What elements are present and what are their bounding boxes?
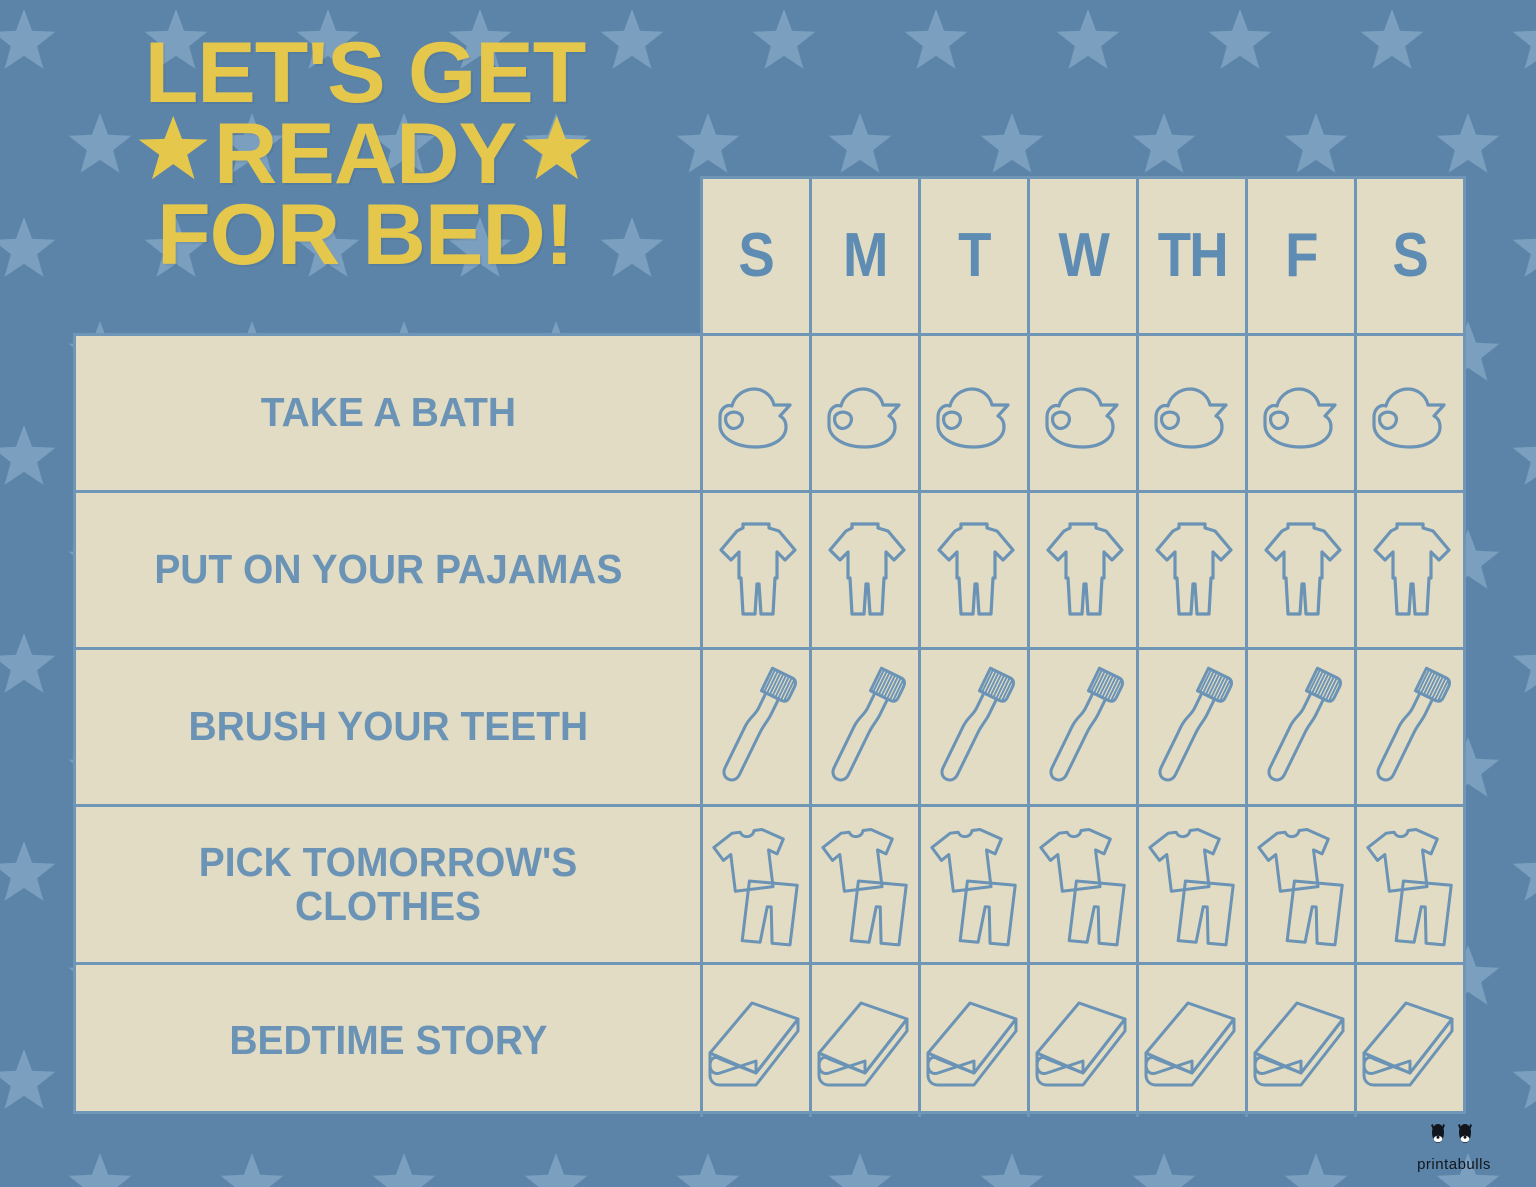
pajamas-icon	[1258, 518, 1344, 622]
background-star-icon	[1513, 425, 1536, 485]
background-star-icon	[1513, 841, 1536, 901]
checkbox-cell-teeth-w[interactable]	[1027, 650, 1136, 804]
toothbrush-icon	[930, 657, 1018, 797]
book-icon	[924, 993, 1024, 1089]
checkbox-cell-bath-t[interactable]	[918, 336, 1027, 490]
task-label-cell-clothes: PICK TOMORROW'S CLOTHES	[76, 807, 700, 962]
checkbox-cell-teeth-th[interactable]	[1136, 650, 1245, 804]
background-star-icon	[829, 1153, 892, 1187]
checkbox-cell-clothes-s2[interactable]	[1354, 807, 1463, 962]
table-row: PUT ON YOUR PAJAMAS	[76, 493, 1463, 650]
checkbox-cell-story-m[interactable]	[809, 965, 918, 1117]
day-header-cell-3: W	[1027, 176, 1136, 333]
day-label-thursday: TH	[1157, 225, 1226, 287]
background-star-icon	[0, 217, 55, 277]
pajamas-icon	[1367, 518, 1453, 622]
checkbox-cell-bath-w[interactable]	[1027, 336, 1136, 490]
title-word-ready: READY	[214, 115, 516, 194]
book-icon	[1360, 993, 1460, 1089]
rubber-duck-icon	[1364, 373, 1456, 453]
checkbox-cell-bath-th[interactable]	[1136, 336, 1245, 490]
toothbrush-icon	[1257, 657, 1345, 797]
table-row: BEDTIME STORY	[76, 965, 1463, 1117]
checkbox-cell-story-t[interactable]	[918, 965, 1027, 1117]
title-line-2-with-stars: READY	[64, 113, 666, 196]
pajamas-icon	[1149, 518, 1235, 622]
pajamas-icon	[822, 518, 908, 622]
checkbox-cell-pajamas-t[interactable]	[918, 493, 1027, 647]
task-label-text: BRUSH YOUR TEETH	[188, 705, 588, 748]
background-star-icon	[677, 113, 740, 173]
rubber-duck-icon	[819, 373, 911, 453]
background-star-icon	[753, 9, 816, 69]
background-star-icon	[0, 9, 55, 69]
background-star-icon	[1285, 1153, 1348, 1187]
background-star-icon	[829, 113, 892, 173]
clothes-icon	[817, 821, 913, 949]
clothes-icon	[1144, 821, 1240, 949]
background-star-icon	[1513, 9, 1536, 69]
day-header-cell-2: T	[918, 176, 1027, 333]
task-label-cell-bath: TAKE A BATH	[76, 336, 700, 490]
checkbox-cell-story-s2[interactable]	[1354, 965, 1463, 1117]
task-label-cell-pajamas: PUT ON YOUR PAJAMAS	[76, 493, 700, 647]
task-label-text: PICK TOMORROW'S CLOTHES	[107, 841, 669, 927]
checkbox-cell-pajamas-f[interactable]	[1245, 493, 1354, 647]
background-star-icon	[677, 1153, 740, 1187]
checkbox-cell-story-s1[interactable]	[700, 965, 809, 1117]
rubber-duck-icon	[1255, 373, 1347, 453]
background-star-icon	[1437, 113, 1500, 173]
table-row: TAKE A BATH	[76, 336, 1463, 493]
background-star-icon	[0, 1049, 55, 1109]
day-label-sunday: S	[739, 225, 774, 287]
book-icon	[1251, 993, 1351, 1089]
toothbrush-icon	[712, 657, 800, 797]
background-star-icon	[1513, 217, 1536, 277]
checkbox-cell-bath-s1[interactable]	[700, 336, 809, 490]
day-label-wednesday: W	[1058, 225, 1108, 287]
table-row: PICK TOMORROW'S CLOTHES	[76, 807, 1463, 965]
pajamas-icon	[713, 518, 799, 622]
checkbox-cell-pajamas-w[interactable]	[1027, 493, 1136, 647]
background-star-icon	[1513, 633, 1536, 693]
checkbox-cell-pajamas-m[interactable]	[809, 493, 918, 647]
background-star-icon	[905, 9, 968, 69]
clothes-icon	[1253, 821, 1349, 949]
day-label-monday: M	[843, 225, 887, 287]
background-star-icon	[1285, 113, 1348, 173]
checkbox-cell-teeth-t[interactable]	[918, 650, 1027, 804]
checkbox-cell-clothes-m[interactable]	[809, 807, 918, 962]
checkbox-cell-pajamas-s2[interactable]	[1354, 493, 1463, 647]
checkbox-cell-bath-s2[interactable]	[1354, 336, 1463, 490]
background-star-icon	[221, 1153, 284, 1187]
day-header-row: S M T W TH F S	[700, 176, 1466, 333]
rubber-duck-icon	[710, 373, 802, 453]
checkbox-cell-clothes-t[interactable]	[918, 807, 1027, 962]
brand-name-text: printabulls	[1394, 1156, 1514, 1173]
clothes-icon	[708, 821, 804, 949]
clothes-icon	[1362, 821, 1458, 949]
background-star-icon	[1513, 1049, 1536, 1109]
checkbox-cell-clothes-w[interactable]	[1027, 807, 1136, 962]
day-label-saturday: S	[1393, 225, 1428, 287]
checkbox-cell-teeth-m[interactable]	[809, 650, 918, 804]
checkbox-cell-bath-m[interactable]	[809, 336, 918, 490]
checkbox-cell-pajamas-th[interactable]	[1136, 493, 1245, 647]
pajamas-icon	[931, 518, 1017, 622]
bulldog-heads-icon	[1425, 1121, 1483, 1153]
day-header-cell-4: TH	[1136, 176, 1245, 333]
task-label-text: BEDTIME STORY	[229, 1019, 547, 1062]
day-label-friday: F	[1285, 225, 1317, 287]
background-star-icon	[1133, 1153, 1196, 1187]
checkbox-cell-bath-f[interactable]	[1245, 336, 1354, 490]
checkbox-cell-clothes-f[interactable]	[1245, 807, 1354, 962]
background-star-icon	[69, 1153, 132, 1187]
checkbox-cell-pajamas-s1[interactable]	[700, 493, 809, 647]
background-star-icon	[0, 425, 55, 485]
page-title: LET'S GET READY FOR BED!	[70, 34, 660, 275]
background-star-icon	[1361, 9, 1424, 69]
background-star-icon	[525, 1153, 588, 1187]
brand-logo: printabulls	[1394, 1121, 1514, 1173]
checkbox-cell-story-w[interactable]	[1027, 965, 1136, 1117]
checkbox-cell-teeth-f[interactable]	[1245, 650, 1354, 804]
day-header-cell-5: F	[1245, 176, 1354, 333]
task-grid: TAKE A BATH	[73, 333, 1466, 1114]
background-star-icon	[981, 1153, 1044, 1187]
task-label-cell-teeth: BRUSH YOUR TEETH	[76, 650, 700, 804]
day-label-tuesday: T	[958, 225, 990, 287]
book-icon	[706, 993, 806, 1089]
title-line-1: LET'S GET	[64, 34, 666, 113]
background-star-icon	[1057, 9, 1120, 69]
star-right-icon	[520, 113, 593, 196]
task-label-text: PUT ON YOUR PAJAMAS	[154, 548, 622, 591]
toothbrush-icon	[1366, 657, 1454, 797]
background-star-icon	[0, 841, 55, 901]
rubber-duck-icon	[928, 373, 1020, 453]
star-left-icon	[136, 113, 209, 196]
book-icon	[815, 993, 915, 1089]
checkbox-cell-story-th[interactable]	[1136, 965, 1245, 1117]
rubber-duck-icon	[1146, 373, 1238, 453]
checkbox-cell-story-f[interactable]	[1245, 965, 1354, 1117]
clothes-icon	[926, 821, 1022, 949]
book-icon	[1033, 993, 1133, 1089]
background-star-icon	[373, 1153, 436, 1187]
table-row: BRUSH YOUR TEETH	[76, 650, 1463, 807]
task-label-cell-story: BEDTIME STORY	[76, 965, 700, 1117]
pajamas-icon	[1040, 518, 1126, 622]
task-label-text: TAKE A BATH	[260, 391, 515, 434]
bedtime-routine-chart: S M T W TH F S TAKE A BATH	[73, 176, 1466, 1114]
background-star-icon	[0, 633, 55, 693]
book-icon	[1142, 993, 1242, 1089]
background-star-icon	[1133, 113, 1196, 173]
background-star-icon	[981, 113, 1044, 173]
toothbrush-icon	[1039, 657, 1127, 797]
checkbox-cell-clothes-th[interactable]	[1136, 807, 1245, 962]
background-star-icon	[1209, 9, 1272, 69]
toothbrush-icon	[821, 657, 909, 797]
day-header-cell-0: S	[700, 176, 809, 333]
toothbrush-icon	[1148, 657, 1236, 797]
day-header-cell-1: M	[809, 176, 918, 333]
rubber-duck-icon	[1037, 373, 1129, 453]
checkbox-cell-teeth-s2[interactable]	[1354, 650, 1463, 804]
clothes-icon	[1035, 821, 1131, 949]
checkbox-cell-teeth-s1[interactable]	[700, 650, 809, 804]
checkbox-cell-clothes-s1[interactable]	[700, 807, 809, 962]
day-header-cell-6: S	[1354, 176, 1466, 333]
title-line-3: FOR BED!	[64, 196, 666, 275]
